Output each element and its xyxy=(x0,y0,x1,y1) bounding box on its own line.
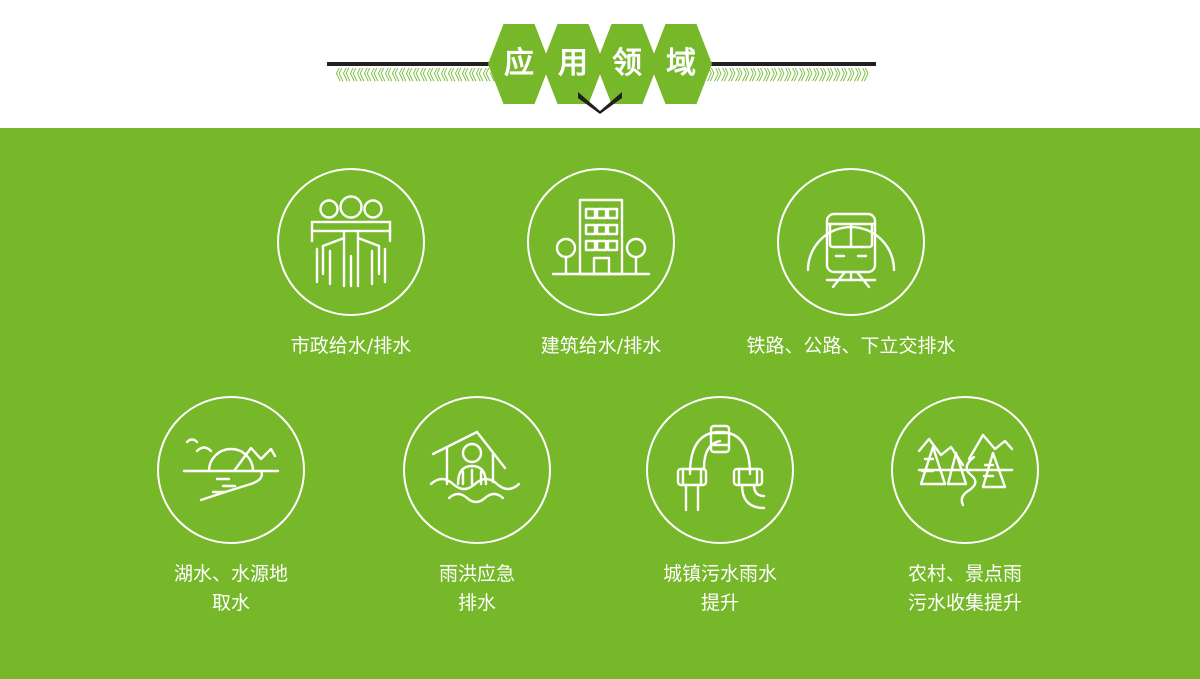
pipe-valve-icon xyxy=(646,396,794,544)
list-item[interactable]: 雨洪应急 排水 xyxy=(372,396,582,618)
list-item-label: 市政给水/排水 xyxy=(246,332,456,361)
application-row-2: 湖水、水源地 取水 雨洪应急 排水 xyxy=(0,396,1200,666)
fountain-water-supply-icon xyxy=(277,168,425,316)
list-item[interactable]: 市政给水/排水 xyxy=(246,168,456,361)
list-item[interactable]: 建筑给水/排水 xyxy=(496,168,706,361)
title-char-2: 用 xyxy=(558,49,588,79)
list-item[interactable]: 湖水、水源地 取水 xyxy=(126,396,336,618)
header-ornament-left: 《《《《《《《《《《《《《《《《《《《《《《《《 xyxy=(327,68,505,82)
flooded-house-icon xyxy=(403,396,551,544)
mountain-river-trees-icon xyxy=(891,396,1039,544)
chevron-down-icon xyxy=(578,92,622,114)
title-hexagon-4: 域 xyxy=(650,24,712,104)
list-item[interactable]: 农村、景点雨 污水收集提升 xyxy=(860,396,1070,618)
title-hexagon-1: 应 xyxy=(488,24,550,104)
list-item-label: 雨洪应急 排水 xyxy=(372,560,582,618)
list-item[interactable]: 铁路、公路、下立交排水 xyxy=(746,168,956,361)
list-item-label: 铁路、公路、下立交排水 xyxy=(746,332,956,361)
application-row-1: 市政给水/排水 xyxy=(0,168,1200,398)
header-ornament-right: 》》》》》》》》》》》》》》》》》》》》》》》》 xyxy=(698,68,876,82)
list-item-label: 建筑给水/排水 xyxy=(496,332,706,361)
train-tunnel-icon xyxy=(777,168,925,316)
application-fields-panel: 市政给水/排水 xyxy=(0,128,1200,679)
list-item-label: 湖水、水源地 取水 xyxy=(126,560,336,618)
title-char-1: 应 xyxy=(504,49,534,79)
page-header: 《《《《《《《《《《《《《《《《《《《《《《《《 》》》》》》》》》》》》》》》… xyxy=(0,0,1200,128)
title-char-3: 领 xyxy=(612,49,642,79)
list-item[interactable]: 城镇污水雨水 提升 xyxy=(615,396,825,618)
building-icon xyxy=(527,168,675,316)
title-char-4: 域 xyxy=(666,49,696,79)
lake-sunset-icon xyxy=(157,396,305,544)
list-item-label: 农村、景点雨 污水收集提升 xyxy=(860,560,1070,618)
header-rule-right xyxy=(686,62,876,66)
list-item-label: 城镇污水雨水 提升 xyxy=(615,560,825,618)
